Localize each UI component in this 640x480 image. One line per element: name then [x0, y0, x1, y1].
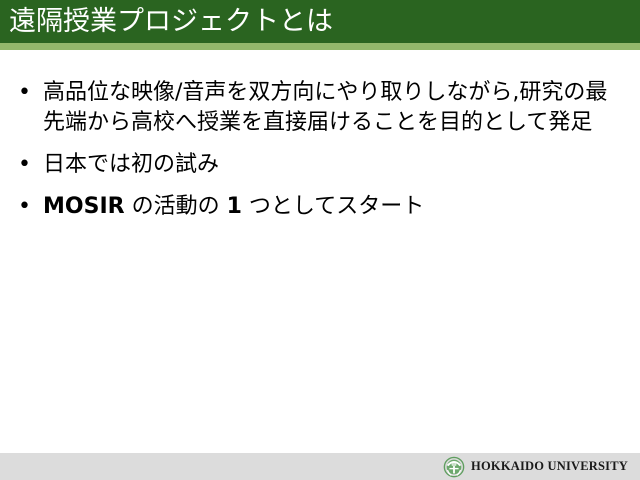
- bullet-text-segment: 1: [227, 194, 242, 219]
- bullet-text-segment: 日本では初の試み: [43, 152, 219, 177]
- bullet-text-segment: の活動の: [125, 194, 227, 219]
- slide-title-bar: 遠隔授業プロジェクトとは: [0, 0, 640, 43]
- slide-body: •高品位な映像/音声を双方向にやり取りしながら,研究の最先端から高校へ授業を直接…: [0, 50, 640, 453]
- hokkaido-university-crest-icon: [443, 456, 465, 478]
- footer-wordmark: HOKKAIDO UNIVERSITY: [471, 459, 628, 474]
- bullet-text: 日本では初の試み: [43, 150, 614, 180]
- bullet-list: •高品位な映像/音声を双方向にやり取りしながら,研究の最先端から高校へ授業を直接…: [14, 78, 614, 234]
- bullet-text-segment: 高品位な映像/音声を双方向にやり取りしながら,研究の最先端から高校へ授業を直接届…: [43, 80, 607, 135]
- bullet-marker-icon: •: [14, 78, 43, 108]
- bullet-text-segment: MOSIR: [43, 194, 125, 219]
- bullet-text: 高品位な映像/音声を双方向にやり取りしながら,研究の最先端から高校へ授業を直接届…: [43, 78, 614, 138]
- bullet-marker-icon: •: [14, 150, 43, 180]
- title-accent-stripe: [0, 43, 640, 50]
- list-item: •日本では初の試み: [14, 150, 614, 180]
- bullet-text-segment: つとしてスタート: [242, 194, 424, 219]
- list-item: •高品位な映像/音声を双方向にやり取りしながら,研究の最先端から高校へ授業を直接…: [14, 78, 614, 138]
- list-item: •MOSIR の活動の 1 つとしてスタート: [14, 192, 614, 222]
- bullet-marker-icon: •: [14, 192, 43, 222]
- footer-logo: HOKKAIDO UNIVERSITY: [443, 453, 628, 480]
- slide-title: 遠隔授業プロジェクトとは: [0, 7, 333, 37]
- bullet-text: MOSIR の活動の 1 つとしてスタート: [43, 192, 614, 222]
- slide-root: 遠隔授業プロジェクトとは •高品位な映像/音声を双方向にやり取りしながら,研究の…: [0, 0, 640, 480]
